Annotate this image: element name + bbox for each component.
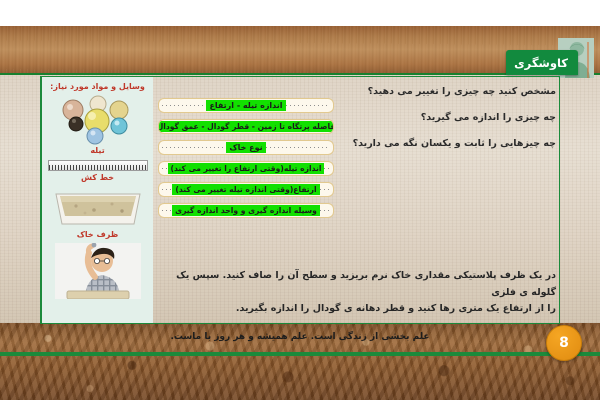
answer-field-2[interactable]: فاصله پرتگاه تا زمین - قطر گودال - عمق گ… bbox=[158, 119, 334, 134]
dotted-line bbox=[266, 147, 330, 148]
section-tab-label: کاوشگری bbox=[514, 56, 568, 70]
instructions-line-1: در یک ظرف پلاستیکی مقداری خاک نرم بریزید… bbox=[164, 268, 556, 301]
marbles-icon bbox=[51, 93, 145, 145]
dotted-line bbox=[162, 147, 226, 148]
soil-tray-icon bbox=[50, 186, 146, 228]
instructions-line-2: را از ارتفاع یک متری رها کنید و قطر دهان… bbox=[164, 301, 556, 318]
footer-note: علم بخشی از زندگی است. علم همیشه و هر رو… bbox=[0, 332, 600, 342]
dotted-line bbox=[162, 105, 206, 106]
answer-value-6: وسیله اندازه گیری و واحد اندازه گیری bbox=[172, 205, 320, 216]
dotted-line bbox=[286, 105, 330, 106]
answer-fields: اندازه تیله - ارتفاع فاصله پرتگاه تا زمی… bbox=[158, 98, 334, 224]
questions-block: مشخص کنید چه چیزی را تغییر می دهید؟ چه چ… bbox=[321, 86, 556, 163]
footer-green-strip bbox=[0, 352, 600, 356]
answer-value-1: اندازه تیله - ارتفاع bbox=[206, 100, 285, 111]
slide-canvas: کاوشگری وسایل و مواد مورد نیاز: تیله خط … bbox=[0, 0, 600, 400]
top-white-band bbox=[0, 0, 600, 26]
materials-sidebar: وسایل و مواد مورد نیاز: تیله خط کش bbox=[41, 77, 153, 323]
dotted-line bbox=[320, 210, 330, 211]
answer-value-2: فاصله پرتگاه تا زمین - قطر گودال - عمق گ… bbox=[158, 121, 334, 132]
answer-field-4[interactable]: اندازه تیله(وقتی ارتفاع را تغییر می کند) bbox=[158, 161, 334, 176]
page-number-badge: 8 bbox=[546, 325, 582, 361]
dotted-line bbox=[324, 168, 330, 169]
materials-item-caption-soil-tray: ظرف خاک bbox=[77, 230, 119, 239]
answer-value-4: اندازه تیله(وقتی ارتفاع را تغییر می کند) bbox=[168, 163, 325, 174]
materials-item-caption-ruler: خط کش bbox=[81, 173, 114, 182]
dotted-line bbox=[162, 168, 168, 169]
materials-item-caption-marble: تیله bbox=[90, 146, 104, 155]
dotted-line bbox=[320, 189, 330, 190]
question-3: چه چیزهایی را ثابت و یکسان نگه می دارید؟ bbox=[321, 138, 556, 151]
answer-value-5: ارتفاع(وقتی اندازه تیله تغییر می کند) bbox=[172, 184, 319, 195]
section-tab-exploration[interactable]: کاوشگری bbox=[506, 50, 578, 75]
boy-dropping-marble-photo bbox=[55, 243, 141, 299]
answer-field-6[interactable]: وسیله اندازه گیری و واحد اندازه گیری bbox=[158, 203, 334, 218]
question-2: چه چیزی را اندازه می گیرید؟ bbox=[321, 112, 556, 125]
answer-field-1[interactable]: اندازه تیله - ارتفاع bbox=[158, 98, 334, 113]
instructions-paragraph: در یک ظرف پلاستیکی مقداری خاک نرم بریزید… bbox=[164, 268, 556, 318]
question-1: مشخص کنید چه چیزی را تغییر می دهید؟ bbox=[321, 86, 556, 99]
ruler-icon bbox=[48, 160, 148, 171]
dotted-line bbox=[162, 210, 172, 211]
dotted-line bbox=[162, 189, 172, 190]
answer-value-3: نوع خاک bbox=[226, 142, 265, 153]
materials-sidebar-title: وسایل و مواد مورد نیاز: bbox=[50, 82, 145, 91]
answer-field-5[interactable]: ارتفاع(وقتی اندازه تیله تغییر می کند) bbox=[158, 182, 334, 197]
answer-field-3[interactable]: نوع خاک bbox=[158, 140, 334, 155]
